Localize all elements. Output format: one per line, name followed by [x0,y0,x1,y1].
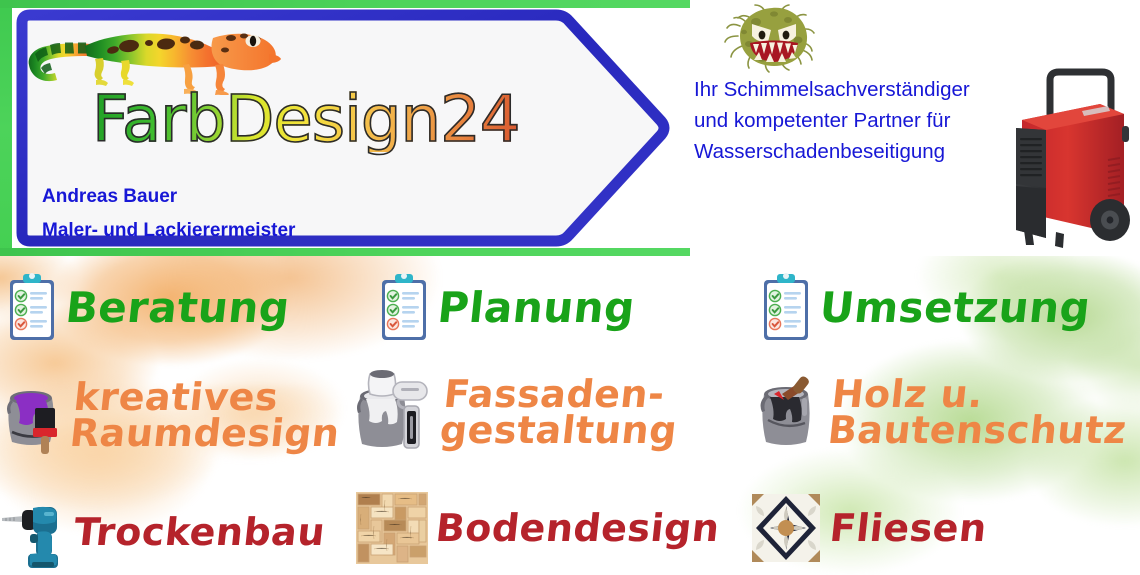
service-label: Fassaden- gestaltung [438,376,683,449]
parquet-floor-icon [356,492,428,564]
promo-line-1: Ihr Schimmelsachverständiger [694,74,1024,105]
wood-stain-bucket-icon [756,372,822,452]
services-panel: Beratung [0,256,1140,575]
service-item-holzbautenschutz[interactable]: Holz u. Bautenschutz [756,372,1128,452]
green-bottom-border [0,248,690,256]
service-label: Holz u. Bautenschutz [826,376,1132,449]
service-label: Trockenbau [72,514,327,550]
green-left-border [0,0,12,256]
promo-line-3: Wasserschadenbeseitigung [694,136,1024,167]
owner-title: Maler- und Lackierermeister [42,220,295,242]
ornamental-tile-icon [750,490,822,566]
service-item-umsetzung[interactable]: Umsetzung [760,272,1090,344]
service-label: Beratung [64,288,292,328]
clipboard-checklist-icon [760,272,812,344]
logo-block: FarbDesign24 FarbDesign24 Andreas Bauer … [20,10,600,170]
service-item-trockenbau[interactable]: Trockenbau [0,494,325,570]
clipboard-checklist-icon [378,272,430,344]
owner-name: Andreas Bauer [42,186,177,208]
service-label: Planung [436,288,637,328]
green-top-border [0,0,690,8]
service-item-beratung[interactable]: Beratung [6,272,290,344]
service-item-fassadengestaltung[interactable]: Fassaden- gestaltung [352,368,679,456]
logo-text: FarbDesign24 [92,88,520,152]
mold-spore-monster-icon [722,2,826,76]
service-item-bodendesign[interactable]: Bodendesign [356,492,719,564]
paint-roller-bucket-icon [352,368,434,456]
dehumidifier-machine-icon [1004,62,1136,252]
service-label: kreatives Raumdesign [68,379,345,452]
service-item-raumdesign[interactable]: kreatives Raumdesign [2,376,341,454]
service-label: Umsetzung [818,288,1092,328]
promo-line-2: und kompetenter Partner für [694,105,1024,136]
service-label: Fliesen [828,510,989,546]
service-label: Bodendesign [434,510,721,546]
service-item-fliesen[interactable]: Fliesen [750,490,987,566]
header-band: FarbDesign24 FarbDesign24 Andreas Bauer … [0,0,1140,256]
poster-canvas: FarbDesign24 FarbDesign24 Andreas Bauer … [0,0,1140,575]
cordless-drill-icon [0,494,66,570]
service-item-planung[interactable]: Planung [378,272,635,344]
promo-text: Ihr Schimmelsachverständiger und kompete… [694,74,1024,167]
clipboard-checklist-icon [6,272,58,344]
paint-bucket-brush-icon [2,376,64,454]
